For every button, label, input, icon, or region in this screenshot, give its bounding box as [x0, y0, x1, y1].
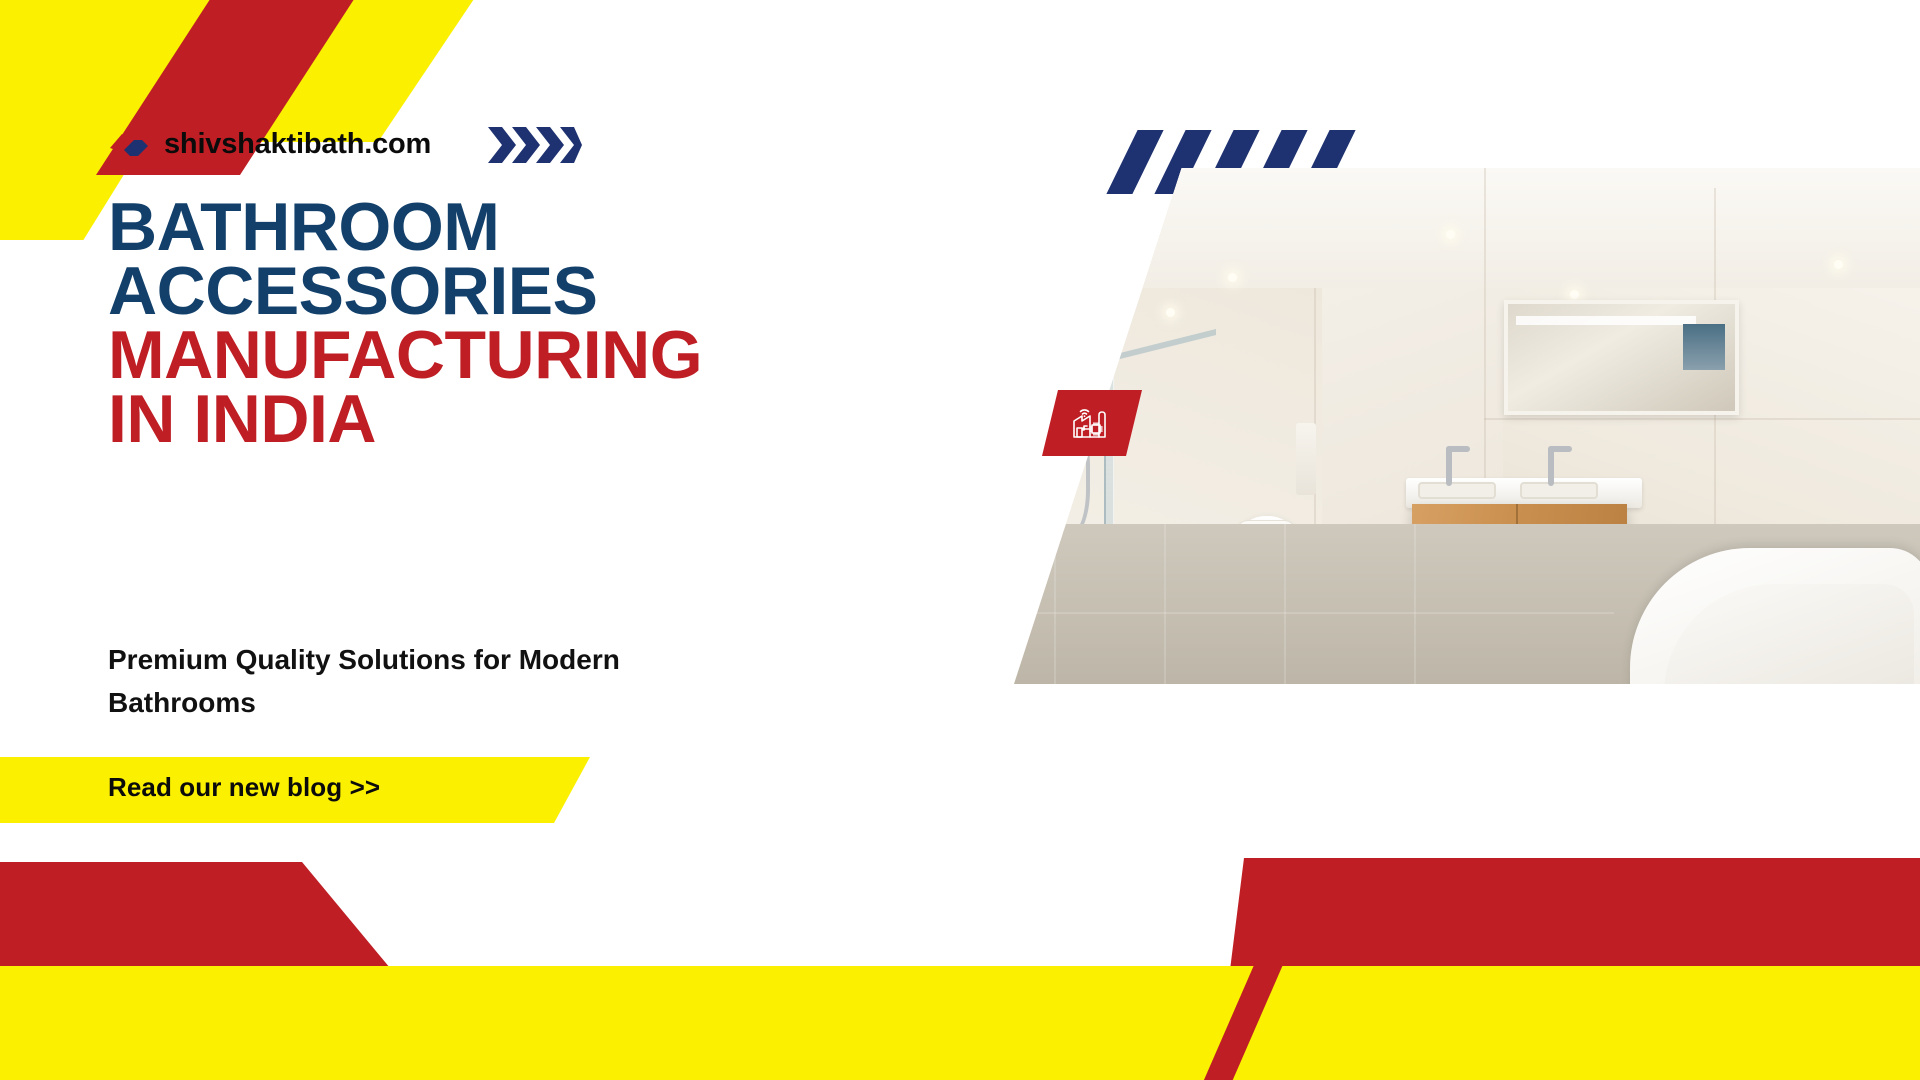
headline-line-1: BATHROOM: [108, 196, 868, 260]
bathroom-photo: [1014, 168, 1920, 684]
bottom-right-red-band: [1230, 858, 1920, 970]
headline-line-2: ACCESSORIES: [108, 260, 868, 324]
bottom-left-red-shape: [0, 862, 390, 968]
page-title: BATHROOM ACCESSORIES MANUFACTURING IN IN…: [108, 196, 868, 452]
bottom-yellow-band: [0, 966, 1920, 1080]
brand-name: shivshaktibath.com: [164, 128, 431, 161]
smart-factory-icon: [1069, 403, 1115, 443]
chevron-right-triple-icon: [486, 124, 582, 166]
headline-line-3: MANUFACTURING: [108, 324, 868, 388]
subheading: Premium Quality Solutions for Modern Bat…: [108, 638, 728, 725]
shivshakti-logo-mark: [108, 126, 150, 162]
brand-row[interactable]: shivshaktibath.com: [108, 126, 431, 162]
headline-line-4: IN INDIA: [108, 388, 868, 452]
banner-canvas: shivshaktibath.com BATHROOM ACCESSORIES …: [0, 0, 1920, 1080]
read-blog-cta[interactable]: Read our new blog >>: [108, 772, 380, 803]
smart-factory-badge: [1042, 390, 1142, 456]
